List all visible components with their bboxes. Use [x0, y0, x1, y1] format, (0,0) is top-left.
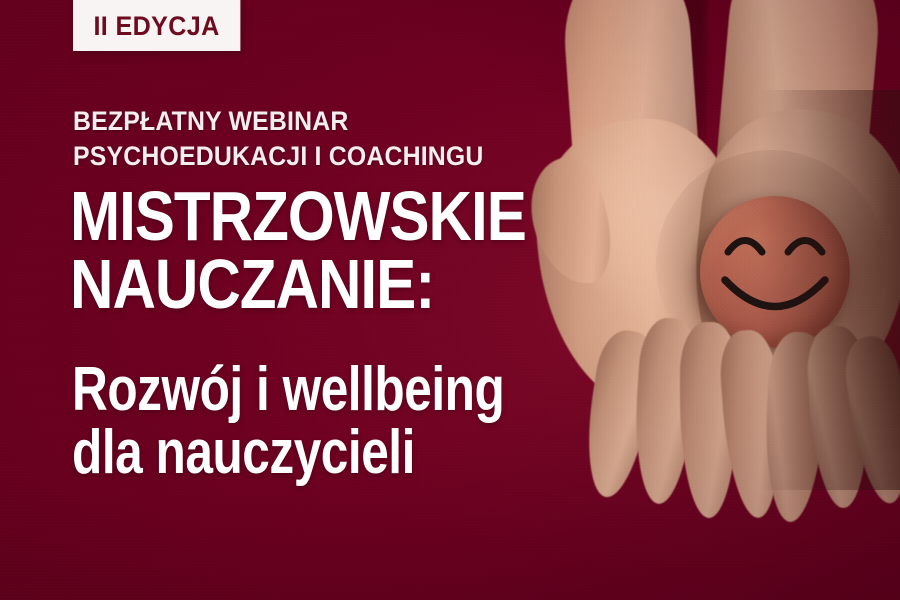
- headline-line-2: NAUCZANIE:: [70, 251, 526, 319]
- subheadline: Rozwój i wellbeing dla nauczycieli: [72, 358, 504, 484]
- edition-badge: II EDYCJA: [73, 0, 240, 51]
- eyebrow-line-1: BEZPŁATNY WEBINAR: [73, 104, 484, 139]
- hands-photo: [528, 0, 900, 600]
- eyebrow-line-2: PSYCHOEDUKACJI I COACHINGU: [73, 139, 484, 174]
- subheadline-line-1: Rozwój i wellbeing: [72, 358, 504, 421]
- headline-line-1: MISTRZOWSKIE: [70, 183, 526, 251]
- headline: MISTRZOWSKIE NAUCZANIE:: [70, 183, 526, 318]
- subheadline-line-2: dla nauczycieli: [72, 421, 504, 484]
- eyebrow-text: BEZPŁATNY WEBINAR PSYCHOEDUKACJI I COACH…: [73, 104, 484, 174]
- promo-poster: II EDYCJA BEZPŁATNY WEBINAR PSYCHOEDUKAC…: [0, 0, 900, 600]
